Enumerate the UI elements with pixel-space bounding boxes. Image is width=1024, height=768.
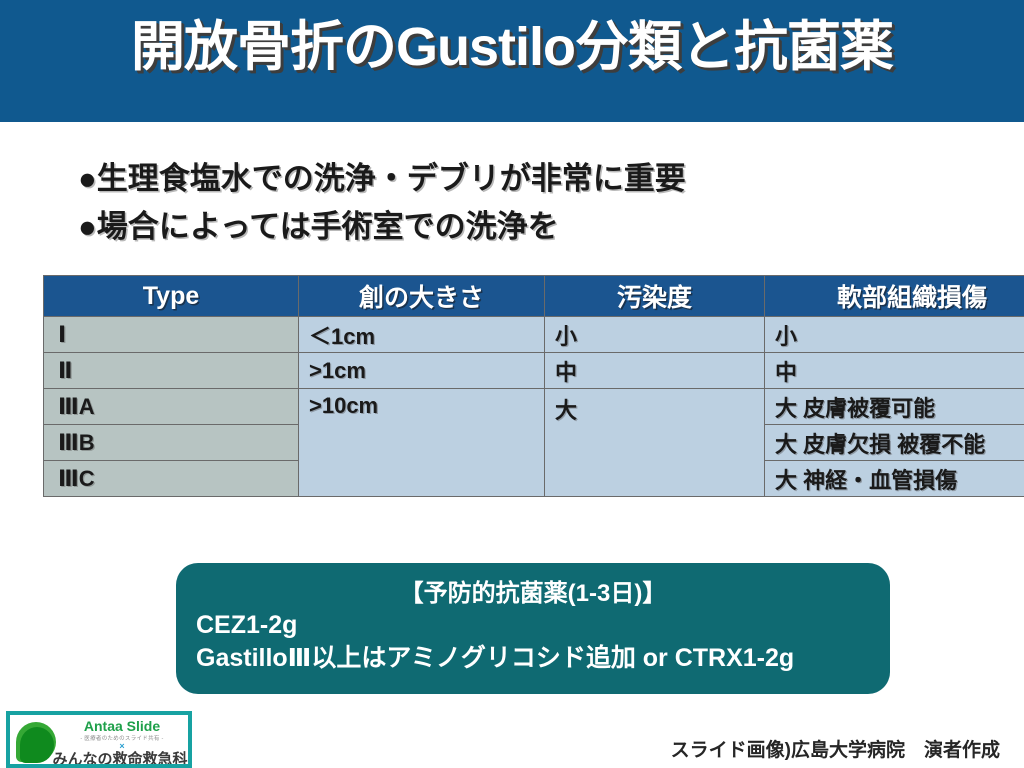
cell-type: Ⅰ	[44, 317, 299, 353]
bullet-item: ●場合によっては手術室での洗浄を	[78, 203, 958, 251]
cell-type: Ⅱ	[44, 353, 299, 389]
antibiotic-line: CEZ1-2g	[196, 609, 870, 642]
table-body: Ⅰ ＜1cm 小 小 Ⅱ >1cm 中 中 ⅢA >10cm 大 大 皮膚被覆可…	[44, 317, 1024, 497]
cell-type: ⅢB	[44, 425, 299, 461]
column-header-soft-tissue: 軟部組織損傷	[765, 276, 1024, 317]
cell-soft-tissue: 小	[765, 317, 1024, 353]
cell-wound-size: >10cm	[299, 389, 545, 497]
gustilo-classification-table: Type 創の大きさ 汚染度 軟部組織損傷 Ⅰ ＜1cm 小 小 Ⅱ >1cm …	[43, 275, 1024, 497]
cell-soft-tissue: 大 皮膚欠損 被覆不能	[765, 425, 1024, 461]
table-header-row: Type 創の大きさ 汚染度 軟部組織損傷	[44, 276, 1024, 317]
antaa-slide-logo: Antaa Slide - 医療者のためのスライド共有 - × みんなの救命救急…	[6, 711, 192, 768]
antibiotic-callout-box: 【予防的抗菌薬(1-3日)】 CEZ1-2g GastilloⅢ以上はアミノグリ…	[176, 563, 890, 694]
column-header-wound-size: 創の大きさ	[299, 276, 545, 317]
bullet-list: ●生理食塩水での洗浄・デブリが非常に重要 ●場合によっては手術室での洗浄を	[78, 155, 958, 251]
cell-contamination: 小	[545, 317, 765, 353]
table-row: Ⅱ >1cm 中 中	[44, 353, 1024, 389]
table-row: ⅢA >10cm 大 大 皮膚被覆可能	[44, 389, 1024, 425]
cell-wound-size: >1cm	[299, 353, 545, 389]
cell-type: ⅢA	[44, 389, 299, 425]
antibiotic-line: GastilloⅢ以上はアミノグリコシド追加 or CTRX1-2g	[196, 642, 870, 675]
cell-contamination: 中	[545, 353, 765, 389]
column-header-type: Type	[44, 276, 299, 317]
bullet-item: ●生理食塩水での洗浄・デブリが非常に重要	[78, 155, 958, 203]
cell-soft-tissue: 大 皮膚被覆可能	[765, 389, 1024, 425]
antibiotic-box-title: 【予防的抗菌薬(1-3日)】	[196, 579, 870, 609]
cell-contamination: 大	[545, 389, 765, 497]
logo-brand-name: Antaa Slide	[56, 718, 188, 734]
cell-soft-tissue: 中	[765, 353, 1024, 389]
table-row: Ⅰ ＜1cm 小 小	[44, 317, 1024, 353]
logo-inner: Antaa Slide - 医療者のためのスライド共有 - × みんなの救命救急…	[10, 715, 188, 764]
footer-credit: スライド画像)広島大学病院 演者作成	[671, 735, 1000, 762]
cell-wound-size: ＜1cm	[299, 317, 545, 353]
cell-type: ⅢC	[44, 461, 299, 497]
cell-soft-tissue: 大 神経・血管損傷	[765, 461, 1024, 497]
title-banner: 開放骨折のGustilo分類と抗菌薬	[0, 0, 1024, 122]
logo-department-name: みんなの救命救急科	[48, 748, 192, 768]
table-header: Type 創の大きさ 汚染度 軟部組織損傷	[44, 276, 1024, 317]
column-header-contamination: 汚染度	[545, 276, 765, 317]
page-title: 開放骨折のGustilo分類と抗菌薬	[0, 14, 1024, 82]
